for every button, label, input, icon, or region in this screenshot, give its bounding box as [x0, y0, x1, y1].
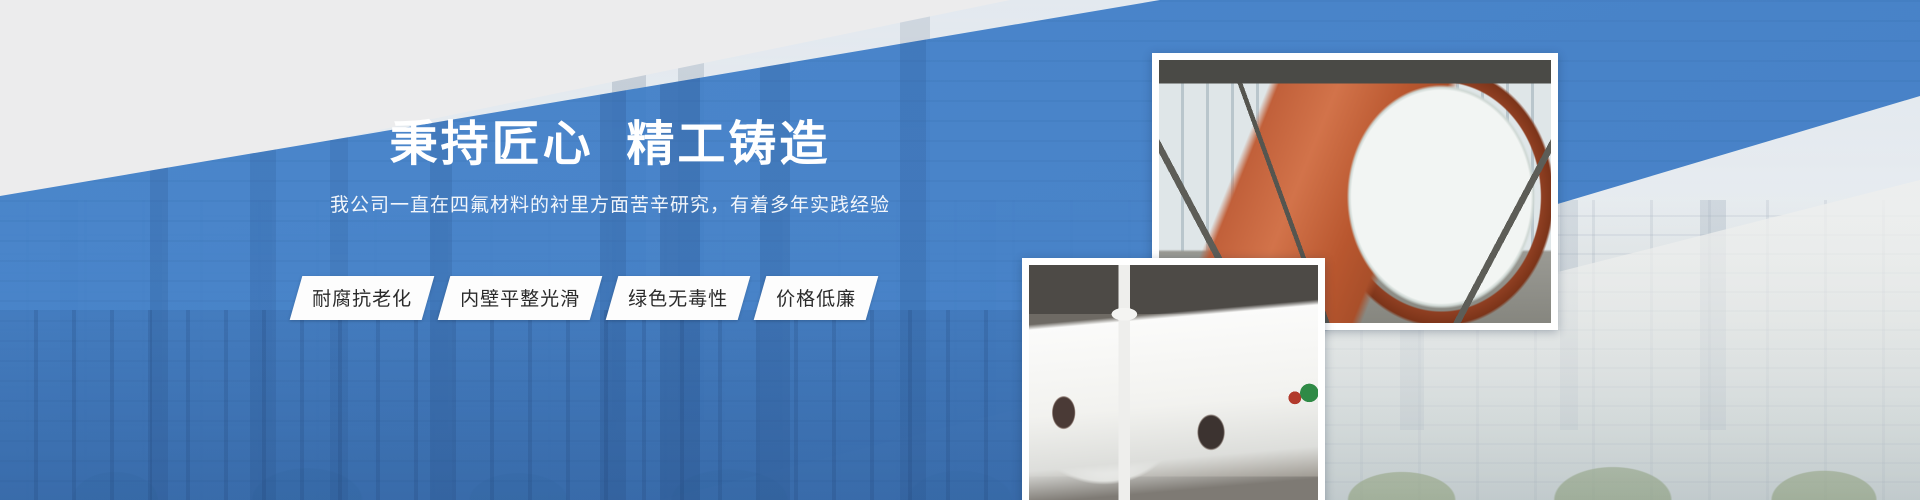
feature-tag-1-label: 耐腐抗老化	[312, 284, 412, 311]
product-photo-white-frp-vessel[interactable]	[1022, 258, 1325, 500]
hero-copy: 秉持匠心 精工铸造 我公司一直在四氟材料的衬里方面苦辛研究，有着多年实践经验	[300, 118, 920, 217]
hero-headline: 秉持匠心 精工铸造	[300, 118, 920, 172]
feature-tag-1[interactable]: 耐腐抗老化	[290, 276, 435, 320]
feature-tag-4[interactable]: 价格低廉	[754, 276, 879, 320]
feature-tag-3-label: 绿色无毒性	[628, 284, 728, 311]
feature-tag-list: 耐腐抗老化 内壁平整光滑 绿色无毒性 价格低廉	[296, 276, 872, 320]
product-photo-white-frp-vessel-image	[1029, 265, 1318, 500]
feature-tag-2[interactable]: 内壁平整光滑	[438, 276, 603, 320]
feature-tag-2-label: 内壁平整光滑	[460, 284, 580, 311]
hero-banner: 秉持匠心 精工铸造 我公司一直在四氟材料的衬里方面苦辛研究，有着多年实践经验 耐…	[0, 0, 1920, 500]
feature-tag-3[interactable]: 绿色无毒性	[606, 276, 751, 320]
feature-tag-4-label: 价格低廉	[776, 284, 856, 311]
blue-panel-pipe-rack-texture	[0, 310, 1100, 500]
hero-subheadline: 我公司一直在四氟材料的衬里方面苦辛研究，有着多年实践经验	[300, 190, 920, 217]
